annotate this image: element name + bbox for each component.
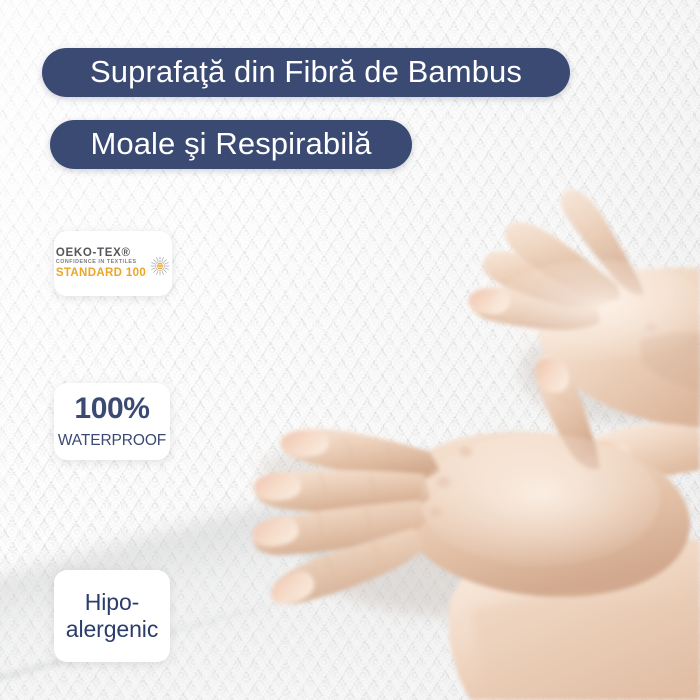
hypoallergenic-badge: Hipo- alergenic [54,570,170,662]
headline-pill-breathable-text: Moale şi Respirabilă [90,128,371,162]
waterproof-label: WATERPROOF [58,433,166,449]
oeko-tex-subtitle: CONFIDENCE IN TEXTILES [56,259,137,267]
oeko-tex-standard: STANDARD 100 [56,267,146,280]
oeko-tex-title: OEKO-TEX® [56,247,131,259]
waterproof-percent: 100% [74,394,149,424]
headline-pill-surface-text: Suprafaţă din Fibră de Bambus [90,56,522,90]
headline-pill-surface: Suprafaţă din Fibră de Bambus [42,48,570,97]
hypoallergenic-label-line1: Hipo- [85,589,139,616]
product-marketing-image: Suprafaţă din Fibră de Bambus Moale şi R… [0,0,700,700]
oeko-tex-sunburst-icon [150,256,170,276]
oeko-tex-badge: OEKO-TEX® CONFIDENCE IN TEXTILES STANDAR… [54,231,172,296]
hypoallergenic-label-line2: alergenic [66,616,158,643]
waterproof-badge: 100% WATERPROOF [54,383,170,460]
oeko-tex-badge-content: OEKO-TEX® CONFIDENCE IN TEXTILES STANDAR… [56,247,170,280]
headline-pill-breathable: Moale şi Respirabilă [50,120,412,169]
oeko-tex-text-block: OEKO-TEX® CONFIDENCE IN TEXTILES STANDAR… [56,247,146,280]
